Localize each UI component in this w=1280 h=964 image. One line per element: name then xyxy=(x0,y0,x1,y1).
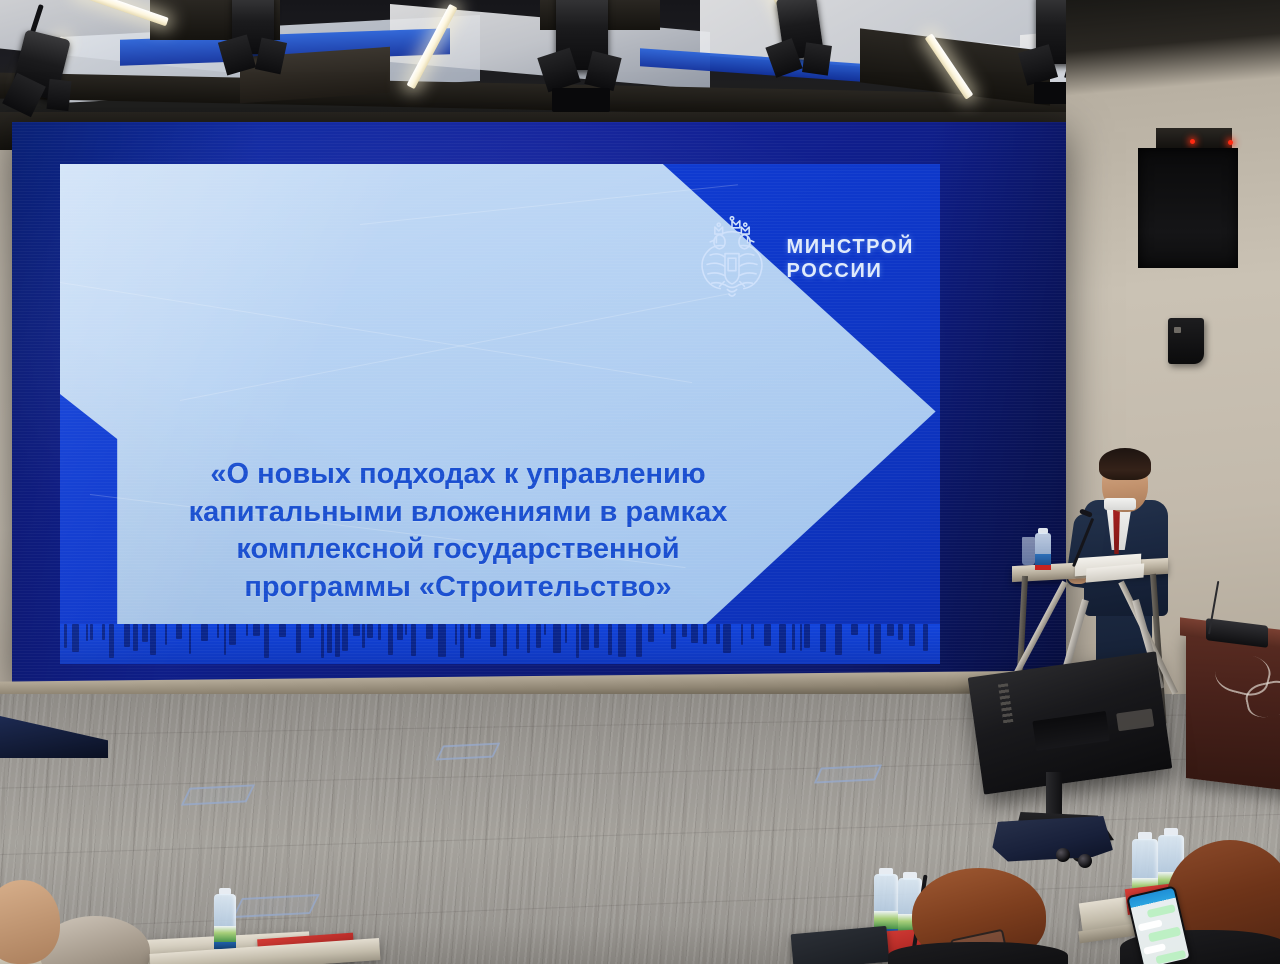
barcode-bar xyxy=(923,624,928,651)
barcode-bar xyxy=(671,624,676,649)
title-line-2: капитальными вложениями в рамках xyxy=(138,494,778,532)
barcode-bar xyxy=(544,624,546,635)
led-video-wall: МИНСТРОЙ РОССИИ «О новых подходах к упра… xyxy=(12,122,1066,684)
barcode-bar xyxy=(663,624,665,634)
barcode-bar xyxy=(142,624,148,642)
barcode-bar xyxy=(618,624,626,657)
barcode-bar xyxy=(176,624,182,639)
barcode-bar xyxy=(581,624,589,650)
barcode-bar xyxy=(246,624,248,636)
barcode-bar xyxy=(279,624,286,637)
barcode-bar xyxy=(851,624,858,635)
barcode-bar xyxy=(264,624,269,658)
barcode-bar xyxy=(648,624,654,642)
barcode-bar xyxy=(124,624,130,647)
barcode-bar xyxy=(438,624,446,657)
barcode-bar xyxy=(388,624,393,655)
barcode-bar xyxy=(86,624,88,641)
barcode-bar xyxy=(741,624,743,645)
barcode-bar xyxy=(335,624,340,657)
barcode-bar xyxy=(553,624,561,653)
slide-barcode-strip xyxy=(60,624,940,664)
barcode-bar xyxy=(874,624,881,654)
barcode-bar xyxy=(426,624,433,639)
barcode-bar xyxy=(455,624,457,645)
barcode-bar xyxy=(327,624,332,653)
barcode-bar xyxy=(835,624,842,655)
barcode-bar xyxy=(703,624,707,644)
barcode-bar xyxy=(72,624,79,652)
slide-title: «О новых подходах к управлению капитальн… xyxy=(138,456,778,607)
barcode-bar xyxy=(189,624,191,654)
conference-hall-photo: МИНСТРОЙ РОССИИ «О новых подходах к упра… xyxy=(0,0,1280,964)
barcode-bar xyxy=(367,624,373,638)
barcode-bar xyxy=(792,624,795,650)
barcode-bar xyxy=(217,624,219,638)
barcode-bar xyxy=(804,624,810,648)
barcode-bar xyxy=(378,624,381,640)
barcode-bar xyxy=(779,624,786,653)
barcode-bar xyxy=(253,624,260,636)
indicator-light xyxy=(1228,140,1233,145)
barcode-bar xyxy=(764,624,771,646)
monitor-vesa-mount xyxy=(1032,711,1109,751)
barcode-bar xyxy=(224,624,226,655)
barcode-bar xyxy=(503,624,507,656)
title-line-3: комплексной государственной xyxy=(138,531,778,569)
barcode-bar xyxy=(682,624,687,637)
barcode-bar xyxy=(475,624,481,639)
barcode-bar xyxy=(468,624,471,638)
monitor-brand-mark xyxy=(998,683,1013,724)
wall-alcove xyxy=(1138,148,1238,268)
barcode-bar xyxy=(887,624,894,636)
drinking-glass xyxy=(1022,537,1035,565)
ministry-logo: МИНСТРОЙ РОССИИ xyxy=(693,216,914,302)
title-line-4: программы «Строительство» xyxy=(138,569,778,607)
barcode-bar xyxy=(516,624,519,649)
barcode-bar xyxy=(751,624,754,639)
barcode-bar xyxy=(102,624,105,640)
barcode-bar xyxy=(594,624,599,648)
russian-coat-of-arms-icon xyxy=(693,216,771,302)
wall-speaker xyxy=(1168,318,1204,364)
barcode-bar xyxy=(527,624,530,653)
barcode-bar xyxy=(229,624,236,645)
speaker-collar xyxy=(1104,498,1136,510)
logo-line-1: МИНСТРОЙ xyxy=(787,235,914,259)
barcode-bar xyxy=(133,624,138,651)
barcode-bar xyxy=(490,624,496,647)
barcode-bar xyxy=(353,624,360,636)
barcode-bar xyxy=(909,624,915,646)
barcode-bar xyxy=(397,624,403,640)
indicator-light xyxy=(1190,139,1195,144)
barcode-bar xyxy=(536,624,541,648)
barcode-bar xyxy=(201,624,208,641)
barcode-bar xyxy=(405,624,407,635)
barcode-bar xyxy=(820,624,826,652)
barcode-bar xyxy=(608,624,612,655)
barcode-bar xyxy=(309,624,314,638)
barcode-bar xyxy=(576,624,579,658)
monitor-port-panel xyxy=(1116,708,1154,731)
barcode-bar xyxy=(898,624,903,640)
barcode-bar xyxy=(342,624,348,651)
monitor-caster xyxy=(1072,846,1088,862)
ministry-logo-text: МИНСТРОЙ РОССИИ xyxy=(787,235,914,284)
barcode-bar xyxy=(636,624,642,657)
speaker-hair xyxy=(1099,448,1151,480)
water-bottle xyxy=(1035,528,1051,570)
barcode-bar xyxy=(109,624,114,658)
barcode-bar xyxy=(150,624,156,655)
barcode-bar xyxy=(723,624,731,653)
barcode-bar xyxy=(64,624,67,648)
barcode-bar xyxy=(411,624,416,656)
presentation-slide: МИНСТРОЙ РОССИИ «О новых подходах к упра… xyxy=(60,164,940,664)
barcode-bar xyxy=(800,624,802,651)
logo-line-2: РОССИИ xyxy=(787,259,914,283)
barcode-bar xyxy=(460,624,464,658)
barcode-bar xyxy=(296,624,301,653)
barcode-bar xyxy=(321,624,324,658)
barcode-bar xyxy=(362,624,365,648)
title-line-1: «О новых подходах к управлению xyxy=(138,456,778,494)
barcode-bar xyxy=(716,624,720,644)
barcode-bar xyxy=(565,624,567,643)
barcode-bar xyxy=(165,624,167,645)
barcode-bar xyxy=(868,624,870,651)
barcode-bar xyxy=(90,624,93,640)
barcode-bar xyxy=(691,624,698,643)
monitor-caster xyxy=(1000,836,1016,852)
